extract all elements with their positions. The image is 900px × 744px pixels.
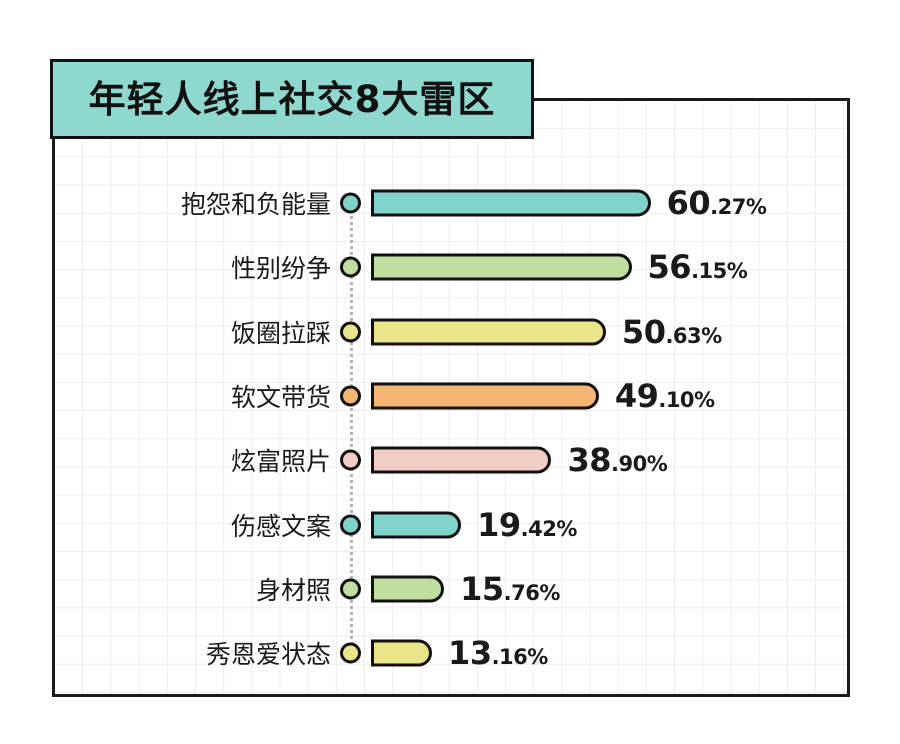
bar-category-label: 秀恩爱状态 [206, 635, 331, 671]
bar-category-label: 饭圈拉踩 [231, 314, 331, 350]
bar-value-decimal: .10% [658, 388, 714, 412]
bar-value-decimal: .76% [504, 581, 560, 605]
category-marker-dot-icon [340, 643, 361, 664]
bar-value-label: 38.90% [567, 441, 667, 479]
bar-value-integer: 56 [648, 248, 692, 286]
bar-category-label: 炫富照片 [231, 442, 331, 478]
bar-category-label: 身材照 [256, 571, 331, 607]
bar [371, 254, 632, 281]
bar [371, 382, 599, 409]
bar-value-integer: 50 [622, 313, 666, 351]
bar-value-label: 19.42% [477, 506, 577, 544]
bar-row: 伤感文案19.42% [55, 492, 853, 558]
bar-row: 抱怨和负能量60.27% [55, 170, 853, 236]
bar-category-label: 软文带货 [231, 378, 331, 414]
bar-value-integer: 19 [477, 506, 521, 544]
bar [371, 640, 432, 667]
bar-category-label: 抱怨和负能量 [181, 185, 331, 221]
bar-value-label: 60.27% [667, 184, 767, 222]
bar [371, 575, 444, 602]
category-marker-dot-icon [340, 514, 361, 535]
bar-value-decimal: .63% [665, 324, 721, 348]
bar-value-integer: 15 [460, 570, 504, 608]
bar-row: 炫富照片38.90% [55, 427, 853, 493]
category-marker-dot-icon [340, 257, 361, 278]
bar-row: 秀恩爱状态13.16% [55, 620, 853, 686]
category-marker-dot-icon [340, 385, 361, 406]
bar [371, 511, 461, 538]
chart-frame: 抱怨和负能量60.27%性别纷争56.15%饭圈拉踩50.63%软文带货49.1… [52, 98, 850, 697]
category-marker-dot-icon [340, 450, 361, 471]
bar-value-integer: 49 [615, 377, 659, 415]
bar-value-integer: 38 [567, 441, 611, 479]
bar-value-decimal: .15% [691, 259, 747, 283]
page-title: 年轻人线上社交8大雷区 [89, 81, 496, 118]
bar-value-decimal: .27% [710, 195, 766, 219]
bar-row: 性别纷争56.15% [55, 234, 853, 300]
bar-value-integer: 60 [667, 184, 711, 222]
chart-title-plaque: 年轻人线上社交8大雷区 [50, 59, 534, 139]
bar-value-label: 49.10% [615, 377, 715, 415]
bar-value-integer: 13 [448, 634, 492, 672]
bar-value-label: 56.15% [648, 248, 748, 286]
category-marker-dot-icon [340, 578, 361, 599]
bar-value-label: 15.76% [460, 570, 560, 608]
plot-area: 抱怨和负能量60.27%性别纷争56.15%饭圈拉踩50.63%软文带货49.1… [55, 101, 853, 700]
bar-row: 身材照15.76% [55, 556, 853, 622]
chart-page: 抱怨和负能量60.27%性别纷争56.15%饭圈拉踩50.63%软文带货49.1… [0, 0, 900, 744]
bar-category-label: 伤感文案 [231, 507, 331, 543]
bar [371, 318, 606, 345]
bar-value-label: 50.63% [622, 313, 722, 351]
bar-value-decimal: .16% [492, 645, 548, 669]
bar [371, 447, 551, 474]
category-marker-dot-icon [340, 321, 361, 342]
bar-value-decimal: .42% [521, 517, 577, 541]
bar-value-decimal: .90% [611, 452, 667, 476]
bar [371, 190, 651, 217]
bar-row: 饭圈拉踩50.63% [55, 299, 853, 365]
bar-row: 软文带货49.10% [55, 363, 853, 429]
category-marker-dot-icon [340, 193, 361, 214]
bar-category-label: 性别纷争 [231, 249, 331, 285]
bar-value-label: 13.16% [448, 634, 548, 672]
